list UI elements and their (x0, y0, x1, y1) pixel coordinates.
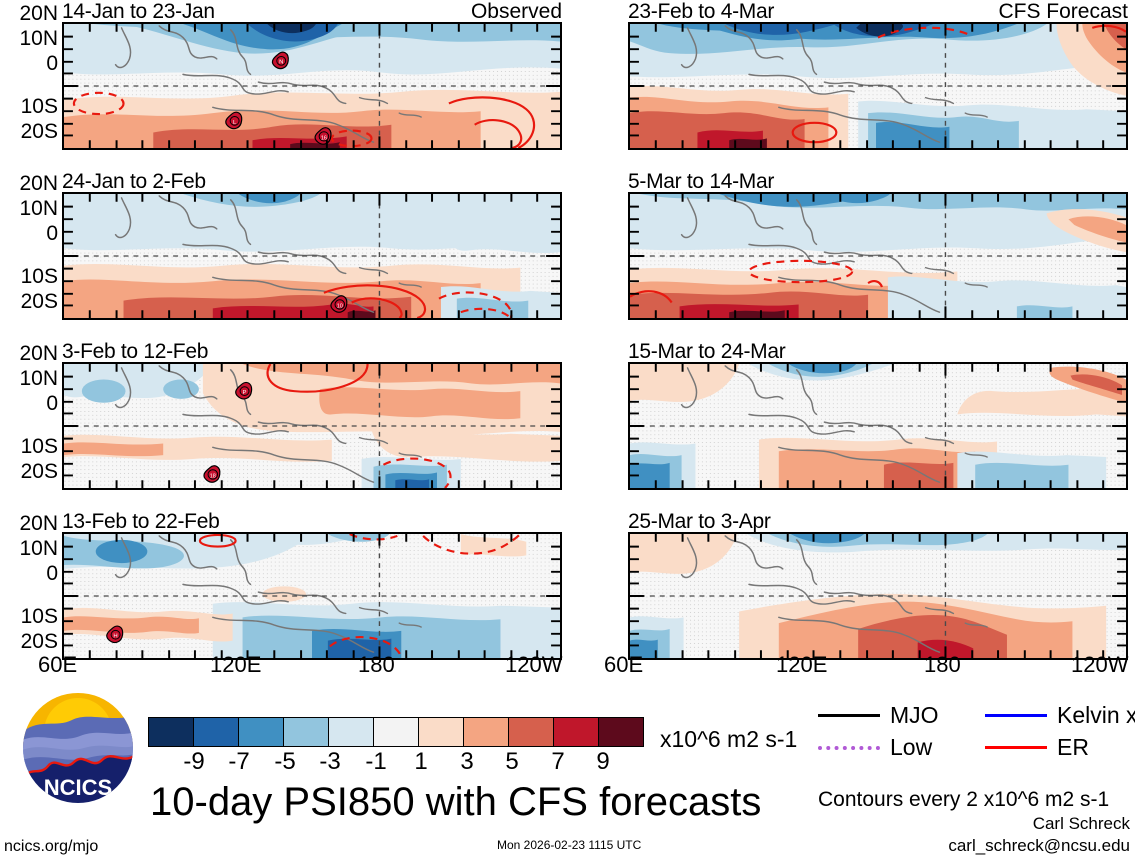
x-axis-labels-left: 60E 120E 180 120W (62, 652, 562, 678)
colorbar-swatch-8 (509, 718, 554, 746)
field-plot: P 18 (64, 364, 560, 488)
panel-23-feb-to-4-mar: 23-Feb to 4-Mar CFS Forecast (628, 0, 1128, 160)
cb-tick-5: 5 (505, 748, 518, 776)
y-tick-10n: 10N (0, 538, 58, 559)
cb-tick--9: -9 (183, 748, 204, 776)
svg-text:10: 10 (337, 303, 343, 309)
map-area (628, 22, 1128, 150)
x-axis-labels-right: 60E 120E 180 120W (628, 652, 1128, 678)
y-tick-20n: 20N (0, 3, 58, 24)
panel-title: 15-Mar to 24-Mar (628, 340, 785, 364)
colorbar-swatch-1 (194, 718, 239, 746)
legend-label-mjo: MJO (890, 702, 939, 729)
field-plot (630, 534, 1126, 658)
author-name: Carl Schreck (1033, 814, 1130, 834)
legend-label-low: Low (890, 734, 932, 761)
legend-label-kelvin: Kelvin x2 (1057, 702, 1135, 729)
panel-title: 3-Feb to 12-Feb (62, 340, 208, 364)
colorbar (148, 717, 644, 747)
colorbar-swatch-0 (149, 718, 194, 746)
colorbar-ticklabels: -9 -7 -5 -3 -1 1 3 5 7 9 (148, 748, 648, 776)
svg-text:18: 18 (210, 473, 216, 479)
field-plot: H (64, 534, 560, 658)
contour-interval-note: Contours every 2 x10^6 m2 s-1 (818, 788, 1109, 812)
colorbar-swatch-7 (464, 718, 509, 746)
logo-text: NCICS (44, 775, 112, 800)
y-tick-10s: 10S (0, 606, 58, 627)
author-email[interactable]: carl_schreck@ncsu.edu (948, 836, 1130, 856)
y-tick-20n: 20N (0, 513, 58, 534)
y-tick-20s: 20S (0, 121, 58, 142)
panel-title: 13-Feb to 22-Feb (62, 510, 219, 534)
y-tick-10s: 10S (0, 96, 58, 117)
legend-label-er: ER (1057, 734, 1089, 761)
svg-text:P: P (243, 390, 247, 396)
map-area: H (62, 532, 562, 660)
colorbar-swatch-4 (329, 718, 374, 746)
colorbar-unit-label: x10^6 m2 s-1 (660, 726, 797, 753)
svg-text:H: H (113, 634, 117, 640)
cb-tick--1: -1 (365, 748, 386, 776)
x-tick-120e: 120E (210, 652, 261, 678)
panel-title: 14-Jan to 23-Jan (62, 0, 215, 24)
y-tick-10n: 10N (0, 28, 58, 49)
legend-line-mjo (818, 714, 880, 717)
panel-13-feb-to-22-feb: 13-Feb to 22-Feb (62, 510, 562, 670)
y-tick-10n: 10N (0, 368, 58, 389)
x-tick-60e: 60E (38, 652, 77, 678)
panel-title: 24-Jan to 2-Feb (62, 170, 206, 194)
map-area (628, 532, 1128, 660)
site-url[interactable]: ncics.org/mjo (4, 838, 98, 856)
legend-line-kelvin (985, 714, 1047, 717)
x-tick-60e: 60E (604, 652, 643, 678)
x-tick-180: 180 (358, 652, 395, 678)
field-plot: 10 (64, 194, 560, 318)
colorbar-swatch-3 (284, 718, 329, 746)
panel-3-feb-to-12-feb: 3-Feb to 12-Feb (62, 340, 562, 500)
cb-tick--5: -5 (274, 748, 295, 776)
y-tick-20s: 20S (0, 291, 58, 312)
map-area: 10 (62, 192, 562, 320)
panel-corner-label: Observed (471, 0, 562, 24)
x-tick-120w: 120W (1071, 652, 1128, 678)
panel-5-mar-to-14-mar: 5-Mar to 14-Mar (628, 170, 1128, 330)
panel-title: 23-Feb to 4-Mar (628, 0, 774, 24)
y-tick-0: 0 (0, 393, 58, 414)
panel-14-jan-to-23-jan: 14-Jan to 23-Jan Observed (62, 0, 562, 160)
field-plot (630, 194, 1126, 318)
y-tick-10s: 10S (0, 266, 58, 287)
panel-25-mar-to-3-apr: 25-Mar to 3-Apr (628, 510, 1128, 670)
colorbar-swatch-10 (599, 718, 643, 746)
timestamp: Mon 2026-02-23 1115 UTC (497, 838, 641, 852)
panel-15-mar-to-24-mar: 15-Mar to 24-Mar (628, 340, 1128, 500)
legend-line-low (818, 746, 880, 750)
map-area (628, 192, 1128, 320)
y-tick-0: 0 (0, 563, 58, 584)
field-plot (630, 24, 1126, 148)
map-area: P 18 (62, 362, 562, 490)
legend-line-er (985, 746, 1047, 749)
cb-tick-3: 3 (460, 748, 473, 776)
y-tick-10s: 10S (0, 436, 58, 457)
panel-title: 5-Mar to 14-Mar (628, 170, 774, 194)
field-plot: N L 16 (64, 24, 560, 148)
y-tick-20s: 20S (0, 631, 58, 652)
map-area: N L 16 (62, 22, 562, 150)
line-legend: MJO Kelvin x2 Low ER (818, 702, 1135, 764)
colorbar-swatch-6 (419, 718, 464, 746)
x-tick-120w: 120W (505, 652, 562, 678)
colorbar-swatch-5 (374, 718, 419, 746)
y-tick-10n: 10N (0, 198, 58, 219)
cb-tick-7: 7 (551, 748, 564, 776)
panel-title: 25-Mar to 3-Apr (628, 510, 771, 534)
cb-tick-1: 1 (414, 748, 427, 776)
cb-tick--7: -7 (228, 748, 249, 776)
panel-grid: 20N 10N 0 10S 20S 20N 10N 0 10S 20S 20N … (0, 0, 1135, 680)
y-tick-20s: 20S (0, 461, 58, 482)
cb-tick-9: 9 (596, 748, 609, 776)
y-tick-0: 0 (0, 223, 58, 244)
x-tick-180: 180 (924, 652, 961, 678)
panel-corner-label: CFS Forecast (998, 0, 1128, 24)
figure-title: 10-day PSI850 with CFS forecasts (150, 780, 761, 825)
map-area (628, 362, 1128, 490)
colorbar-swatch-2 (239, 718, 284, 746)
svg-text:N: N (279, 60, 283, 66)
y-tick-0: 0 (0, 53, 58, 74)
y-tick-20n: 20N (0, 343, 58, 364)
x-tick-120e: 120E (776, 652, 827, 678)
ncics-logo: NCICS (22, 692, 134, 804)
cb-tick--3: -3 (319, 748, 340, 776)
colorbar-swatch-9 (554, 718, 599, 746)
field-plot (630, 364, 1126, 488)
panel-24-jan-to-2-feb: 24-Jan to 2-Feb (62, 170, 562, 330)
y-tick-20n: 20N (0, 173, 58, 194)
figure-footer: NCICS -9 -7 -5 -3 -1 1 3 5 7 9 x10^6 m2 … (0, 680, 1135, 860)
